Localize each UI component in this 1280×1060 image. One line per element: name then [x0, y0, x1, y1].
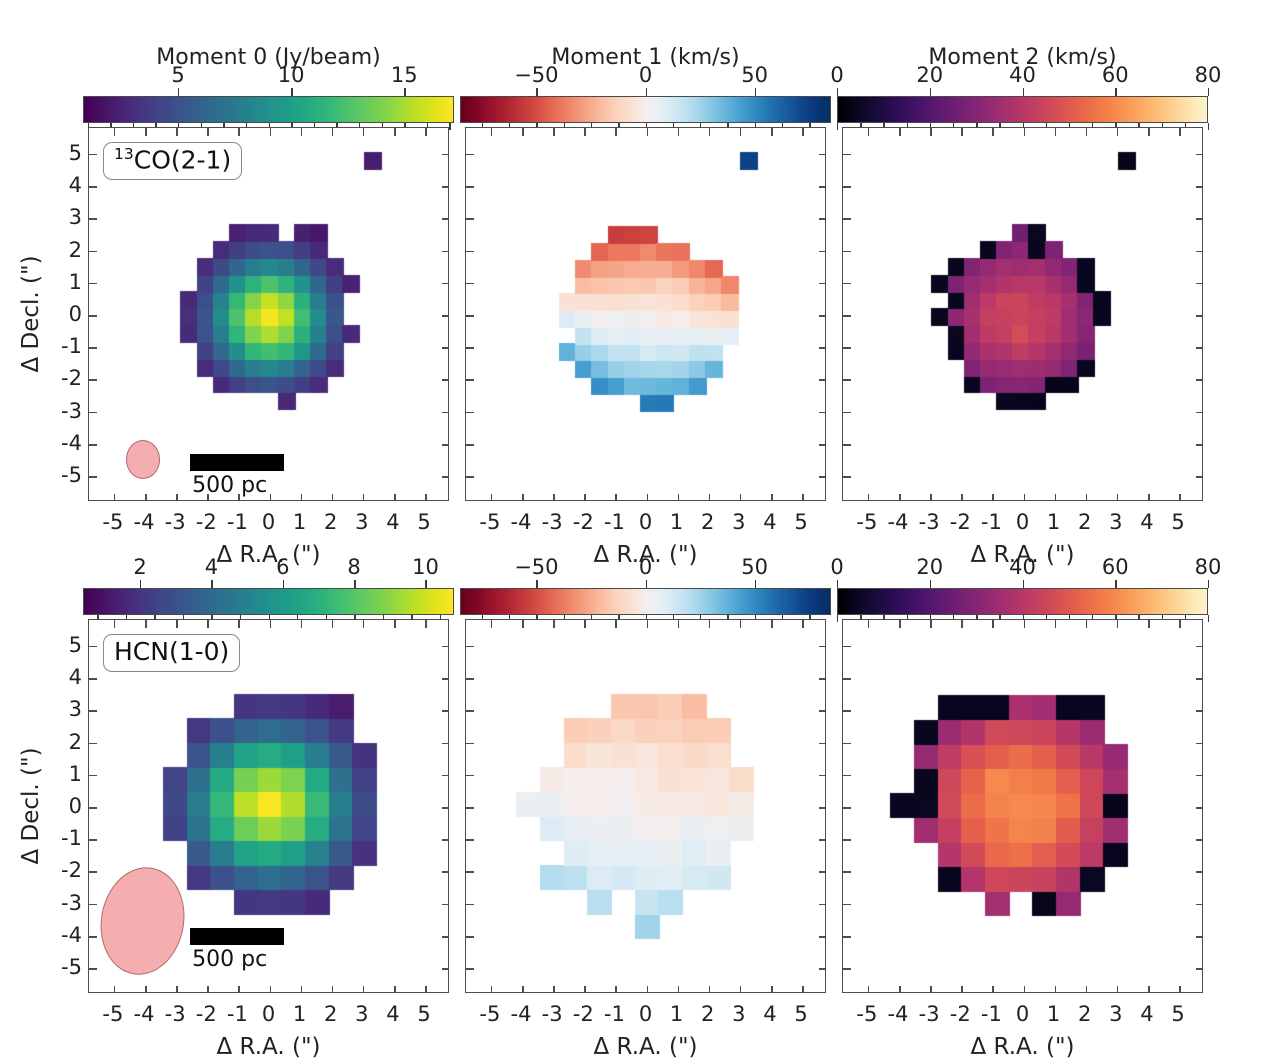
- ytick-right: [442, 904, 449, 906]
- ytick-right: [442, 379, 449, 381]
- xtick-top: [647, 620, 649, 628]
- xtick-label: 3: [732, 510, 745, 534]
- xtick-labels-hcn-moment0: -5-4-3-2-1012345: [88, 1002, 449, 1030]
- ytick: [89, 968, 97, 970]
- xtick-top: [1148, 128, 1150, 136]
- xtick: [1148, 494, 1150, 501]
- map-image-co-moment1: [466, 128, 826, 501]
- ytick-right: [442, 251, 449, 253]
- yaxis-label-hcn-moment0: Δ Decl. ("): [18, 619, 44, 993]
- xtick-label: 5: [417, 510, 430, 534]
- xtick: [771, 494, 773, 501]
- colorbar-tick: [211, 580, 212, 588]
- xtick-label: -4: [134, 1002, 155, 1026]
- colorbar-ticklabels-moment1_co: −50050: [460, 63, 831, 87]
- colorbar-moment2_co: [837, 96, 1208, 123]
- xtick: [868, 986, 870, 993]
- ytick-right: [1196, 154, 1203, 156]
- ytick-right: [442, 154, 449, 156]
- colorbar-tick: [646, 580, 647, 588]
- xtick-top: [802, 620, 804, 628]
- colorbar-moment0_hcn: [83, 588, 454, 615]
- ytick-label: 2: [69, 730, 82, 754]
- ytick: [843, 936, 851, 938]
- ytick-right: [442, 315, 449, 317]
- ytick-right: [442, 871, 449, 873]
- xtick-top: [930, 620, 932, 628]
- xtick: [1086, 986, 1088, 993]
- colorbar-ticklabel: 0: [639, 63, 652, 87]
- ytick: [89, 646, 97, 648]
- xtick-top: [522, 128, 524, 136]
- xtick-label: 1: [670, 510, 683, 534]
- map-image-hcn-moment1: [466, 620, 826, 993]
- colorbar-tick: [178, 88, 179, 96]
- ytick: [843, 743, 851, 745]
- colorbar-ticklabel: 15: [391, 63, 418, 87]
- ytick-label: 0: [69, 302, 82, 326]
- xtick: [709, 986, 711, 993]
- ytick-right: [819, 315, 826, 317]
- ytick-right: [1196, 678, 1203, 680]
- xtick-label: 0: [639, 510, 652, 534]
- xtick-top: [1117, 128, 1119, 136]
- ytick-label: -4: [61, 431, 82, 455]
- colorbar-minor-tick: [449, 123, 450, 130]
- colorbar-tick: [1115, 88, 1116, 96]
- ytick: [89, 154, 97, 156]
- ytick-right: [819, 218, 826, 220]
- colorbar-tick: [930, 88, 931, 96]
- scalebar-label-hcn-moment0: 500 pc: [192, 947, 267, 972]
- xtick-top: [491, 128, 493, 136]
- xtick: [678, 494, 680, 501]
- xtick: [1055, 494, 1057, 501]
- xtick-top: [1086, 128, 1088, 136]
- colorbar-tick: [646, 88, 647, 96]
- panel-co-moment0: 500 pc13CO(2-1): [88, 127, 449, 501]
- xtick-label: 3: [1109, 1002, 1122, 1026]
- colorbar-gradient-moment0_co: [83, 96, 454, 123]
- ytick-right: [442, 775, 449, 777]
- xtick: [709, 494, 711, 501]
- ytick-right: [442, 968, 449, 970]
- xtick-label: 2: [324, 510, 337, 534]
- colorbar-tick: [755, 88, 756, 96]
- xtick-labels-hcn-moment1: -5-4-3-2-1012345: [465, 1002, 826, 1030]
- xtick: [114, 986, 116, 993]
- line-label-text: CO(2-1): [134, 145, 231, 174]
- colorbar-minor-tick: [1208, 615, 1209, 622]
- ytick-label: -3: [61, 399, 82, 423]
- ytick-right: [819, 154, 826, 156]
- xtick-label: 3: [355, 510, 368, 534]
- scalebar-co-moment0: [190, 454, 283, 471]
- ytick: [89, 412, 97, 414]
- colorbar-ticklabels-moment2_co: 020406080: [837, 63, 1208, 87]
- xtick: [394, 986, 396, 993]
- xtick-label: 4: [386, 1002, 399, 1026]
- xtick: [1024, 986, 1026, 993]
- scalebar-label-co-moment0: 500 pc: [192, 473, 267, 498]
- ytick-right: [1196, 283, 1203, 285]
- ytick: [843, 807, 851, 809]
- ytick: [89, 283, 97, 285]
- xtick-top: [114, 620, 116, 628]
- ytick: [89, 315, 97, 317]
- xtick-top: [270, 128, 272, 136]
- xtick: [1117, 986, 1119, 993]
- ytick-right: [819, 807, 826, 809]
- ytick: [89, 379, 97, 381]
- ytick: [843, 154, 851, 156]
- colorbar-moment1_co: [460, 96, 831, 123]
- xtick: [238, 494, 240, 501]
- ytick: [89, 678, 97, 680]
- xtick: [145, 494, 147, 501]
- ytick: [89, 251, 97, 253]
- xtick-top: [615, 620, 617, 628]
- colorbar-moment2_hcn: [837, 588, 1208, 615]
- xtick-top: [709, 128, 711, 136]
- xtick-top: [522, 620, 524, 628]
- xtick-label: 0: [1016, 510, 1029, 534]
- ytick-label: -5: [61, 463, 82, 487]
- xtick-top: [992, 128, 994, 136]
- xtick: [363, 986, 365, 993]
- ytick: [466, 807, 474, 809]
- xtick-label: 2: [1078, 1002, 1091, 1026]
- ytick-right: [1196, 412, 1203, 414]
- colorbar-ticks-moment2_co: [837, 88, 1208, 96]
- xtick-top: [238, 128, 240, 136]
- ytick-right: [1196, 251, 1203, 253]
- xtick-top: [1024, 620, 1026, 628]
- ytick: [466, 678, 474, 680]
- ytick: [89, 839, 97, 841]
- xtick-label: -1: [227, 510, 248, 534]
- xtick-label: 2: [1078, 510, 1091, 534]
- colorbar-gradient-moment2_hcn: [837, 588, 1208, 615]
- ytick: [466, 775, 474, 777]
- xtick-label: -1: [604, 510, 625, 534]
- xtick-top: [1179, 128, 1181, 136]
- xtick-label: -2: [196, 1002, 217, 1026]
- ytick-right: [1196, 871, 1203, 873]
- xtick-top: [961, 620, 963, 628]
- xtick: [647, 494, 649, 501]
- xtick: [992, 986, 994, 993]
- ytick: [843, 412, 851, 414]
- colorbar-tick: [930, 580, 931, 588]
- xtick: [740, 494, 742, 501]
- ytick: [843, 251, 851, 253]
- ytick: [466, 839, 474, 841]
- panel-co-moment2: [842, 127, 1203, 501]
- ytick: [843, 476, 851, 478]
- colorbar-tick: [837, 580, 838, 588]
- colorbar-ticks-moment2_hcn: [837, 580, 1208, 588]
- xtick-label: -1: [981, 510, 1002, 534]
- colorbar-ticklabel: 80: [1195, 63, 1222, 87]
- xtick-top: [1055, 620, 1057, 628]
- ytick: [466, 218, 474, 220]
- ytick: [466, 412, 474, 414]
- xtick-top: [678, 620, 680, 628]
- ytick-label: 3: [69, 697, 82, 721]
- ytick: [466, 154, 474, 156]
- xtick-label: -3: [165, 510, 186, 534]
- ytick-labels-hcn-moment0: -5-4-3-2-1012345: [46, 619, 82, 993]
- xtick-top: [176, 128, 178, 136]
- xtick-top: [899, 128, 901, 136]
- xtick-top: [771, 128, 773, 136]
- xtick-label: -5: [102, 1002, 123, 1026]
- ytick-right: [442, 186, 449, 188]
- ytick-right: [1196, 775, 1203, 777]
- xtick-label: 4: [386, 510, 399, 534]
- xtick: [207, 494, 209, 501]
- xtick: [332, 986, 334, 993]
- colorbar-tick: [755, 580, 756, 588]
- xtick-top: [1024, 128, 1026, 136]
- xtick-label: 4: [763, 510, 776, 534]
- colorbar-tick: [1023, 580, 1024, 588]
- colorbar-ticks-moment1_hcn: [460, 580, 831, 588]
- xtick-label: -2: [950, 1002, 971, 1026]
- xtick-label: -1: [604, 1002, 625, 1026]
- xtick-label: -2: [573, 1002, 594, 1026]
- xtick-label: 0: [639, 1002, 652, 1026]
- xtick: [771, 986, 773, 993]
- ytick-right: [442, 347, 449, 349]
- xtick-top: [930, 128, 932, 136]
- beam-ellipse-co-moment0: [126, 440, 161, 479]
- ytick-label: -2: [61, 858, 82, 882]
- xaxis-label-co-moment1: Δ R.A. ("): [465, 542, 826, 568]
- ytick: [89, 186, 97, 188]
- xtick-top: [899, 620, 901, 628]
- ytick-right: [819, 710, 826, 712]
- xaxis-label-co-moment2: Δ R.A. ("): [842, 542, 1203, 568]
- xtick-top: [176, 620, 178, 628]
- ytick: [843, 646, 851, 648]
- xtick-top: [802, 128, 804, 136]
- colorbar-tick: [1023, 88, 1024, 96]
- xtick-top: [615, 128, 617, 136]
- colorbar-tick: [283, 580, 284, 588]
- ytick-right: [1196, 315, 1203, 317]
- isotope-superscript: 13: [114, 145, 134, 163]
- xtick-label: 0: [1016, 1002, 1029, 1026]
- ytick-label: 2: [69, 238, 82, 262]
- xtick-top: [740, 620, 742, 628]
- ytick-right: [1196, 839, 1203, 841]
- xtick-top: [394, 128, 396, 136]
- xtick: [930, 494, 932, 501]
- xtick: [553, 986, 555, 993]
- ytick: [843, 678, 851, 680]
- ytick-right: [819, 186, 826, 188]
- xtick-labels-hcn-moment2: -5-4-3-2-1012345: [842, 1002, 1203, 1030]
- xtick-top: [647, 128, 649, 136]
- ytick: [843, 186, 851, 188]
- xtick-top: [584, 620, 586, 628]
- xtick-top: [584, 128, 586, 136]
- colorbar-minor-tick: [837, 123, 838, 130]
- xtick: [425, 986, 427, 993]
- xtick: [992, 494, 994, 501]
- xtick: [145, 986, 147, 993]
- xtick: [1055, 986, 1057, 993]
- ytick-label: 5: [69, 633, 82, 657]
- ytick: [89, 347, 97, 349]
- ytick-right: [819, 678, 826, 680]
- xtick-label: -4: [511, 1002, 532, 1026]
- xtick-top: [1148, 620, 1150, 628]
- ytick-label: 4: [69, 173, 82, 197]
- ytick-right: [819, 379, 826, 381]
- ytick: [843, 871, 851, 873]
- xtick-label: -5: [479, 1002, 500, 1026]
- colorbar-tick: [425, 580, 426, 588]
- colorbar-minor-tick: [837, 615, 838, 622]
- ytick: [843, 218, 851, 220]
- ytick: [89, 710, 97, 712]
- xtick: [1148, 986, 1150, 993]
- xtick: [270, 494, 272, 501]
- ytick-right: [819, 871, 826, 873]
- ytick: [89, 743, 97, 745]
- xtick: [238, 986, 240, 993]
- xaxis-label-hcn-moment1: Δ R.A. ("): [465, 1034, 826, 1060]
- xtick-top: [709, 620, 711, 628]
- ytick: [466, 646, 474, 648]
- xtick-label: -4: [511, 510, 532, 534]
- xaxis-label-co-moment0: Δ R.A. ("): [88, 542, 449, 568]
- ytick: [466, 283, 474, 285]
- colorbar-tick: [1208, 88, 1209, 96]
- ytick: [466, 379, 474, 381]
- ytick-label: 1: [69, 762, 82, 786]
- xtick-label: -3: [542, 1002, 563, 1026]
- colorbar-ticklabel: −50: [514, 63, 558, 87]
- xtick-top: [961, 128, 963, 136]
- ytick-right: [1196, 807, 1203, 809]
- ytick-right: [819, 347, 826, 349]
- xtick: [802, 494, 804, 501]
- xtick-label: 3: [1109, 510, 1122, 534]
- ytick-right: [819, 936, 826, 938]
- xtick-top: [332, 620, 334, 628]
- xtick-top: [145, 128, 147, 136]
- colorbar-gradient-moment2_co: [837, 96, 1208, 123]
- colorbar-ticklabels-moment0_co: 51015: [83, 63, 454, 87]
- xtick-top: [394, 620, 396, 628]
- xtick-label: -5: [479, 510, 500, 534]
- xtick-label: 2: [701, 1002, 714, 1026]
- scalebar-hcn-moment0: [190, 928, 283, 945]
- ytick-right: [1196, 379, 1203, 381]
- xtick: [1179, 986, 1181, 993]
- ytick-right: [442, 412, 449, 414]
- colorbar-gradient-moment1_hcn: [460, 588, 831, 615]
- xtick-label: -5: [856, 510, 877, 534]
- colorbar-ticks-moment0_hcn: [83, 580, 454, 588]
- xtick-label: 1: [1047, 510, 1060, 534]
- xtick: [270, 986, 272, 993]
- panel-co-moment1: [465, 127, 826, 501]
- xtick-label: 5: [794, 1002, 807, 1026]
- colorbar-ticklabel: 5: [171, 63, 184, 87]
- xtick: [491, 986, 493, 993]
- ytick: [466, 904, 474, 906]
- ytick: [89, 775, 97, 777]
- ytick: [466, 968, 474, 970]
- xtick-label: 5: [417, 1002, 430, 1026]
- xtick: [1117, 494, 1119, 501]
- ytick-label: -1: [61, 826, 82, 850]
- xaxis-label-hcn-moment0: Δ R.A. ("): [88, 1034, 449, 1060]
- xaxis-label-hcn-moment2: Δ R.A. ("): [842, 1034, 1203, 1060]
- colorbar-tick: [1115, 580, 1116, 588]
- xtick: [522, 986, 524, 993]
- yaxis-label-co-moment0: Δ Decl. ("): [18, 127, 44, 501]
- colorbar-ticklabel: 40: [1009, 63, 1036, 87]
- xtick: [1024, 494, 1026, 501]
- xtick-top: [491, 620, 493, 628]
- ytick: [843, 968, 851, 970]
- ytick: [843, 315, 851, 317]
- colorbar-tick: [140, 580, 141, 588]
- ytick-right: [819, 251, 826, 253]
- ytick-label: -4: [61, 923, 82, 947]
- ytick: [466, 743, 474, 745]
- xtick-top: [363, 128, 365, 136]
- line-label-text: HCN(1-0): [114, 637, 229, 666]
- xtick: [584, 494, 586, 501]
- colorbar-tick: [404, 88, 405, 96]
- ytick-right: [819, 904, 826, 906]
- xtick-label: 5: [1171, 1002, 1184, 1026]
- colorbar-ticklabel: 0: [830, 63, 843, 87]
- ytick: [843, 283, 851, 285]
- xtick-top: [238, 620, 240, 628]
- ytick: [466, 315, 474, 317]
- ytick-right: [1196, 646, 1203, 648]
- xtick-top: [868, 128, 870, 136]
- xtick-label: -2: [573, 510, 594, 534]
- panel-hcn-moment2: [842, 619, 1203, 993]
- xtick: [868, 494, 870, 501]
- xtick: [899, 494, 901, 501]
- xtick-label: -3: [919, 1002, 940, 1026]
- line-label-top: 13CO(2-1): [103, 142, 242, 180]
- xtick-label: -4: [888, 510, 909, 534]
- xtick-labels-co-moment0: -5-4-3-2-1012345: [88, 510, 449, 538]
- ytick: [89, 476, 97, 478]
- ytick-right: [819, 646, 826, 648]
- xtick-label: -4: [134, 510, 155, 534]
- ytick-label: 5: [69, 141, 82, 165]
- colorbar-tick: [837, 88, 838, 96]
- xtick-top: [114, 128, 116, 136]
- xtick: [1086, 494, 1088, 501]
- colorbar-tick: [354, 580, 355, 588]
- ytick: [466, 251, 474, 253]
- ytick-right: [442, 283, 449, 285]
- map-image-hcn-moment2: [843, 620, 1203, 993]
